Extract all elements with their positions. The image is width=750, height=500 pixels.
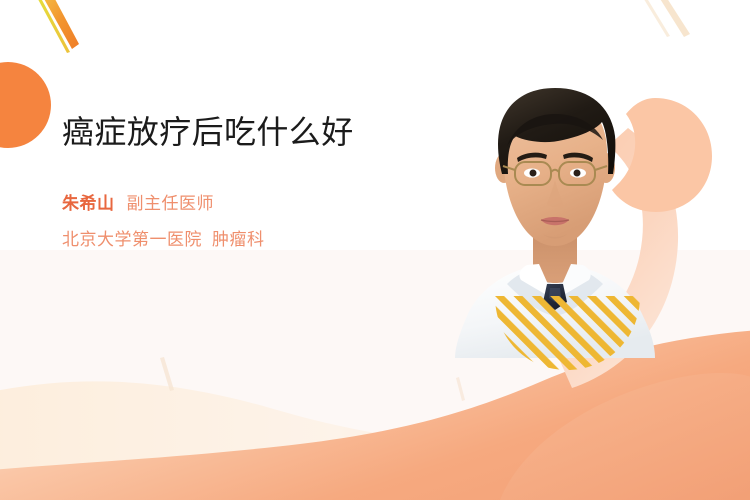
text-block: 癌症放疗后吃什么好 朱希山副主任医师 北京大学第一医院肿瘤科 <box>62 112 412 253</box>
doctor-pupil-right <box>574 170 581 177</box>
doctor-video-cover-card: 癌症放疗后吃什么好 朱希山副主任医师 北京大学第一医院肿瘤科 <box>0 0 750 500</box>
diagonal-streak-faint-left <box>160 357 174 391</box>
striped-half-disc-decoration <box>495 296 640 372</box>
doctor-department: 肿瘤科 <box>212 230 265 249</box>
bottom-wave-salmon-lobe <box>500 373 750 500</box>
orange-circle-decoration <box>0 62 51 148</box>
diagonal-streak-cream-2 <box>642 0 670 37</box>
diagonal-streak-yellow <box>33 0 70 53</box>
diagonal-streak-cream-1 <box>657 0 690 37</box>
doctor-pupil-left <box>530 170 537 177</box>
doctor-credential-line: 朱希山副主任医师 <box>62 190 412 217</box>
bottom-wave-light <box>0 360 750 500</box>
diagonal-streak-orange <box>38 0 79 49</box>
doctor-name: 朱希山 <box>62 194 115 213</box>
page-title: 癌症放疗后吃什么好 <box>62 112 412 154</box>
doctor-hospital: 北京大学第一医院 <box>62 230 202 249</box>
doctor-affiliation-line: 北京大学第一医院肿瘤科 <box>62 226 412 253</box>
diagonal-streak-faint-right <box>456 377 465 401</box>
doctor-rank: 副主任医师 <box>127 194 215 213</box>
